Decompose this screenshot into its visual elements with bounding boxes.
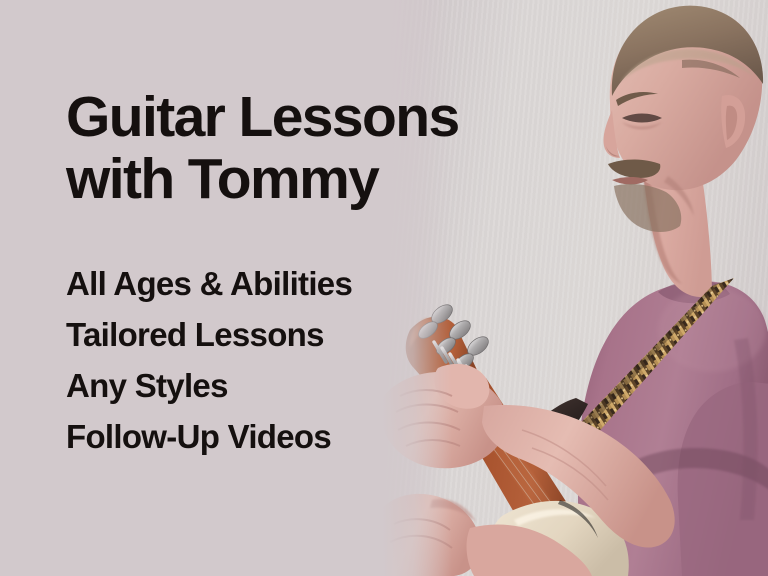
moustache <box>608 160 660 179</box>
page-title: Guitar Lessons with Tommy <box>66 86 496 210</box>
list-item: Follow-Up Videos <box>66 411 352 462</box>
poster-canvas: Guitar Lessons with Tommy All Ages & Abi… <box>0 0 768 576</box>
feature-list: All Ages & Abilities Tailored Lessons An… <box>66 258 352 462</box>
list-item: All Ages & Abilities <box>66 258 352 309</box>
list-item: Tailored Lessons <box>66 309 352 360</box>
list-item: Any Styles <box>66 360 352 411</box>
